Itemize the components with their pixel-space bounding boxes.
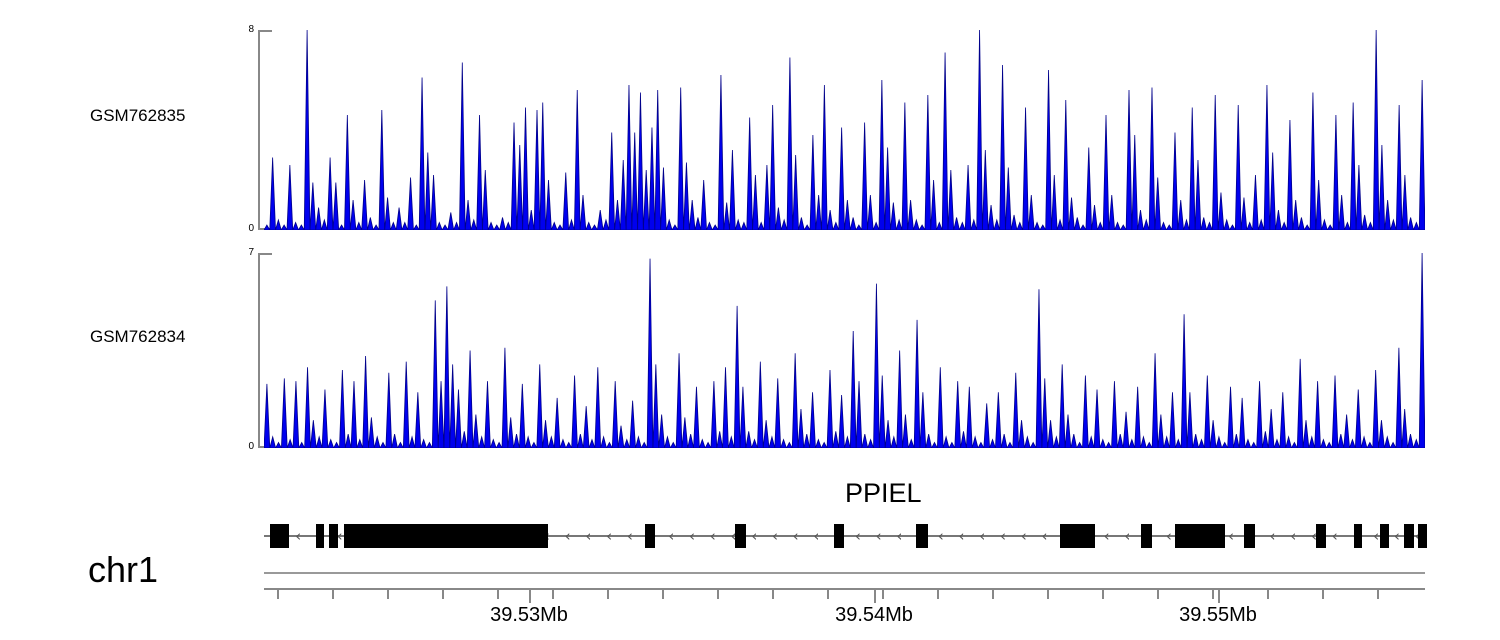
ruler-minor-tick — [497, 590, 499, 599]
ruler-minor-tick — [1377, 590, 1379, 599]
ruler-minor-tick — [1212, 590, 1214, 599]
strand-arrow-icon: ‹ — [1290, 527, 1296, 545]
ruler-minor-tick — [882, 590, 884, 599]
strand-arrow-icon: ‹ — [1124, 527, 1130, 545]
ruler-tick-label: 39.55Mb — [1179, 604, 1257, 627]
ruler-major-tick — [874, 590, 876, 603]
strand-arrow-icon: ‹ — [1394, 527, 1400, 545]
coverage-area-GSM762834 — [264, 253, 1425, 448]
genome-browser: GSM762835 8 0 GSM762834 7 0 PPIEL ‹‹‹‹‹‹… — [0, 0, 1500, 640]
strand-arrow-icon: ‹ — [668, 527, 674, 545]
strand-arrow-icon: ‹ — [1000, 527, 1006, 545]
strand-arrow-icon: ‹ — [1332, 527, 1338, 545]
coverage-plot-gsm762835[interactable] — [264, 30, 1425, 230]
exon-block[interactable] — [270, 524, 289, 548]
ruler-tick-label: 39.53Mb — [490, 604, 568, 627]
exon-block[interactable] — [329, 524, 338, 548]
strand-arrow-icon: ‹ — [710, 527, 716, 545]
exon-block[interactable] — [916, 524, 928, 548]
ruler-minor-tick — [717, 590, 719, 599]
gene-name-label[interactable]: PPIEL — [845, 478, 922, 509]
strand-arrow-icon: ‹ — [1104, 527, 1110, 545]
y-axis-max-label: 7 — [214, 248, 254, 258]
exon-block[interactable] — [1418, 524, 1427, 548]
exon-block[interactable] — [735, 524, 746, 548]
ruler-major-tick — [1218, 590, 1220, 603]
coverage-track-gsm762835[interactable]: GSM762835 8 0 — [0, 30, 1500, 230]
ruler-minor-tick — [442, 590, 444, 599]
strand-arrow-icon: ‹ — [813, 527, 819, 545]
strand-arrow-icon: ‹ — [1021, 527, 1027, 545]
strand-arrow-icon: ‹ — [938, 527, 944, 545]
ruler-minor-tick — [772, 590, 774, 599]
strand-arrow-icon: ‹ — [1228, 527, 1234, 545]
exon-block[interactable] — [1354, 524, 1362, 548]
exon-block[interactable] — [1141, 524, 1152, 548]
exon-block[interactable] — [316, 524, 324, 548]
ruler-major-tick — [529, 590, 531, 603]
ruler-minor-tick — [1102, 590, 1104, 599]
strand-arrow-icon: ‹ — [627, 527, 633, 545]
coverage-area-GSM762835 — [264, 30, 1425, 230]
coverage-plot-gsm762834[interactable] — [264, 253, 1425, 448]
ruler-minor-tick — [937, 590, 939, 599]
exon-block[interactable] — [645, 524, 655, 548]
exon-block[interactable] — [1316, 524, 1326, 548]
strand-arrow-icon: ‹ — [979, 527, 985, 545]
strand-arrow-icon: ‹ — [772, 527, 778, 545]
y-axis-min-label: 0 — [214, 442, 254, 452]
genome-coordinate-axis[interactable]: 39.53Mb39.54Mb39.55Mb — [264, 588, 1425, 590]
ruler-minor-tick — [1047, 590, 1049, 599]
strand-arrow-icon: ‹ — [793, 527, 799, 545]
ruler-minor-tick — [277, 590, 279, 599]
ruler-minor-tick — [992, 590, 994, 599]
strand-arrow-icon: ‹ — [876, 527, 882, 545]
exon-block[interactable] — [1380, 524, 1389, 548]
ruler-minor-tick — [387, 590, 389, 599]
strand-arrow-icon: ‹ — [959, 527, 965, 545]
strand-arrow-icon: ‹ — [1373, 527, 1379, 545]
ruler-minor-tick — [607, 590, 609, 599]
ruler-minor-tick — [1322, 590, 1324, 599]
strand-arrow-icon: ‹ — [751, 527, 757, 545]
y-axis-min-label: 0 — [214, 224, 254, 234]
coverage-path — [264, 30, 1425, 230]
ruler-minor-tick — [827, 590, 829, 599]
strand-arrow-icon: ‹ — [606, 527, 612, 545]
exon-block[interactable] — [1244, 524, 1255, 548]
exon-block[interactable] — [1175, 524, 1225, 548]
strand-arrow-icon: ‹ — [855, 527, 861, 545]
ruler-minor-tick — [1157, 590, 1159, 599]
strand-arrow-icon: ‹ — [1270, 527, 1276, 545]
ruler-separator-line — [264, 572, 1425, 574]
strand-arrow-icon: ‹ — [896, 527, 902, 545]
ruler-minor-tick — [552, 590, 554, 599]
chromosome-label: chr1 — [88, 549, 158, 591]
exon-block[interactable] — [344, 524, 548, 548]
coverage-track-gsm762834[interactable]: GSM762834 7 0 — [0, 253, 1500, 448]
exon-block[interactable] — [1060, 524, 1095, 548]
strand-arrow-icon: ‹ — [689, 527, 695, 545]
strand-arrow-icon: ‹ — [295, 527, 301, 545]
ruler-minor-tick — [1267, 590, 1269, 599]
y-axis-max-label: 8 — [214, 25, 254, 35]
strand-arrow-icon: ‹ — [1166, 527, 1172, 545]
exon-block[interactable] — [834, 524, 844, 548]
gene-model-track[interactable]: ‹‹‹‹‹‹‹‹‹‹‹‹‹‹‹‹‹‹‹‹‹‹‹‹‹‹‹‹‹‹‹‹‹‹‹‹‹‹‹‹… — [264, 524, 1425, 548]
ruler-minor-tick — [662, 590, 664, 599]
exon-block[interactable] — [1404, 524, 1414, 548]
strand-arrow-icon: ‹ — [565, 527, 571, 545]
ruler-minor-tick — [332, 590, 334, 599]
exon-block[interactable] — [501, 524, 511, 548]
strand-arrow-icon: ‹ — [1041, 527, 1047, 545]
strand-arrow-icon: ‹ — [585, 527, 591, 545]
ruler-tick-label: 39.54Mb — [835, 604, 913, 627]
coverage-path — [264, 253, 1425, 448]
